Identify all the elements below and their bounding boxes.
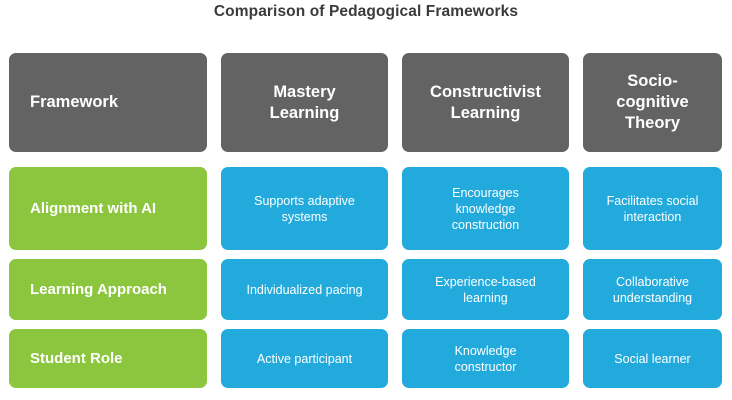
comparison-matrix-diagram: Comparison of Pedagogical Frameworks Fra… (0, 0, 732, 400)
data-cell-approach-socio-cognitive-text: Collaborative understanding (593, 274, 712, 306)
header-cell-framework-label: Framework (30, 92, 207, 113)
data-cell-approach-constructivist: Experience-based learning (402, 259, 569, 320)
data-cell-role-mastery: Active participant (221, 329, 388, 388)
header-cell-socio-cognitive-theory-label: Socio- cognitive Theory (591, 71, 714, 134)
header-cell-constructivist-learning-label: Constructivist Learning (410, 82, 561, 124)
header-cell-mastery-learning-label: Mastery Learning (229, 82, 380, 124)
header-cell-socio-cognitive-theory: Socio- cognitive Theory (583, 53, 722, 152)
data-cell-alignment-socio-cognitive: Facilitates social interaction (583, 167, 722, 250)
header-cell-mastery-learning: Mastery Learning (221, 53, 388, 152)
data-cell-role-constructivist-text: Knowledge constructor (412, 343, 559, 375)
header-cell-framework: Framework (9, 53, 207, 152)
data-cell-role-constructivist: Knowledge constructor (402, 329, 569, 388)
row-label-alignment-with-ai: Alignment with AI (9, 167, 207, 250)
data-cell-alignment-mastery: Supports adaptive systems (221, 167, 388, 250)
row-label-alignment-with-ai-text: Alignment with AI (30, 199, 207, 219)
row-label-learning-approach: Learning Approach (9, 259, 207, 320)
data-cell-approach-mastery-text: Individualized pacing (231, 282, 378, 298)
row-label-student-role: Student Role (9, 329, 207, 388)
page-title: Comparison of Pedagogical Frameworks (0, 2, 732, 22)
matrix-grid: Framework Mastery Learning Constructivis… (9, 53, 722, 388)
header-cell-constructivist-learning: Constructivist Learning (402, 53, 569, 152)
data-cell-alignment-constructivist: Encourages knowledge construction (402, 167, 569, 250)
row-label-learning-approach-text: Learning Approach (30, 280, 207, 300)
data-cell-role-socio-cognitive-text: Social learner (593, 351, 712, 367)
data-cell-role-socio-cognitive: Social learner (583, 329, 722, 388)
data-cell-role-mastery-text: Active participant (231, 351, 378, 367)
data-cell-alignment-constructivist-text: Encourages knowledge construction (412, 185, 559, 233)
data-cell-alignment-socio-cognitive-text: Facilitates social interaction (593, 193, 712, 225)
row-label-student-role-text: Student Role (30, 349, 207, 369)
data-cell-approach-constructivist-text: Experience-based learning (412, 274, 559, 306)
data-cell-alignment-mastery-text: Supports adaptive systems (231, 193, 378, 225)
data-cell-approach-mastery: Individualized pacing (221, 259, 388, 320)
data-cell-approach-socio-cognitive: Collaborative understanding (583, 259, 722, 320)
